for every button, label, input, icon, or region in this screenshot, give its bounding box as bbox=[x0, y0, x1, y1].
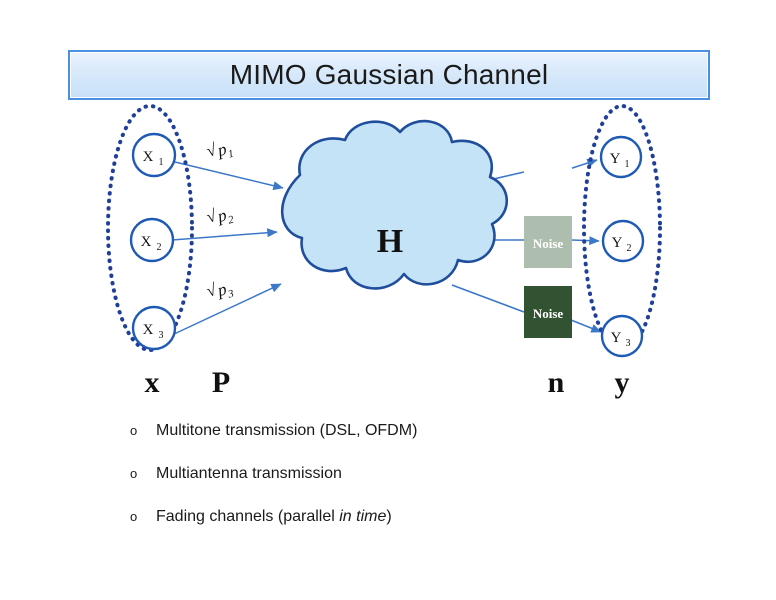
noise-box-2: Noise bbox=[524, 216, 572, 268]
list-item-text-italic: in time bbox=[339, 508, 386, 525]
cloud-letter: H bbox=[377, 223, 403, 260]
arrow-x2-to-cloud bbox=[172, 232, 277, 240]
input-node-x1-base: X bbox=[143, 149, 154, 165]
list-item-text-lead: Fading channels (parallel bbox=[156, 508, 339, 525]
list-item-text: Multitone transmission (DSL, OFDM) bbox=[156, 422, 417, 440]
bullet-circle-icon: o bbox=[130, 467, 156, 480]
input-node-x3[interactable]: X 3 bbox=[133, 307, 175, 349]
bullet-circle-icon: o bbox=[130, 424, 156, 437]
gain-label-p2-sub: 2 bbox=[227, 214, 236, 227]
output-vector-label: y bbox=[615, 366, 630, 399]
input-vector-label: x bbox=[145, 366, 160, 399]
input-node-x2-base: X bbox=[141, 234, 152, 250]
gain-label-p3: √ p 3 bbox=[204, 276, 235, 306]
page-title: MIMO Gaussian Channel bbox=[230, 59, 549, 91]
slide-title-banner: MIMO Gaussian Channel bbox=[68, 50, 710, 100]
output-node-y1-sub: 1 bbox=[625, 159, 630, 170]
list-item: o Fading channels (parallel in time) bbox=[130, 508, 690, 551]
gain-label-p2: √ p 2 bbox=[204, 202, 235, 232]
list-item-text: Multiantenna transmission bbox=[156, 465, 342, 483]
noise-vector-label: n bbox=[548, 366, 565, 399]
gain-label-p1-sub: 1 bbox=[227, 148, 235, 161]
list-item: o Multitone transmission (DSL, OFDM) bbox=[130, 422, 690, 465]
noise-box-2-label: Noise bbox=[533, 236, 564, 251]
output-node-y2-sub: 2 bbox=[627, 243, 632, 254]
cloud-shape bbox=[282, 121, 507, 288]
noise-box-3-label: Noise bbox=[533, 306, 564, 321]
input-node-x2-circle bbox=[131, 219, 173, 261]
list-item: o Multiantenna transmission bbox=[130, 465, 690, 508]
input-node-x1-circle bbox=[133, 134, 175, 176]
connector-cloud-noise-3 bbox=[452, 285, 524, 312]
output-node-y2-circle bbox=[603, 221, 643, 261]
output-node-y2-base: Y bbox=[612, 235, 623, 251]
input-node-x3-sub: 3 bbox=[159, 330, 164, 341]
noise-box-1-label: Noise bbox=[533, 165, 564, 180]
list-item-text-suffix: ) bbox=[386, 508, 391, 525]
input-node-x2-sub: 2 bbox=[157, 242, 162, 253]
input-node-x3-circle bbox=[133, 307, 175, 349]
output-node-y1-circle bbox=[601, 137, 641, 177]
input-arrows bbox=[172, 162, 283, 335]
input-node-x1-sub: 1 bbox=[159, 157, 164, 168]
bullet-circle-icon: o bbox=[130, 510, 156, 523]
output-node-y3-sub: 3 bbox=[626, 338, 631, 349]
bullet-list: o Multitone transmission (DSL, OFDM) o M… bbox=[130, 422, 690, 551]
arrow-x1-to-cloud bbox=[175, 162, 283, 188]
noise-box-3: Noise bbox=[524, 286, 572, 338]
input-node-x2[interactable]: X 2 bbox=[131, 219, 173, 261]
gain-label-p1: √ p 1 bbox=[204, 136, 235, 165]
channel-cloud: H bbox=[282, 121, 507, 288]
noise-box-1: Noise bbox=[524, 145, 572, 197]
list-item-text: Fading channels (parallel in time) bbox=[156, 508, 392, 526]
output-node-y2[interactable]: Y 2 bbox=[603, 221, 643, 261]
input-node-x1[interactable]: X 1 bbox=[133, 134, 175, 176]
power-matrix-label: P bbox=[212, 366, 230, 399]
gain-label-p3-sub: 3 bbox=[226, 288, 236, 301]
output-node-y3[interactable]: Y 3 bbox=[602, 316, 642, 356]
output-node-y1[interactable]: Y 1 bbox=[601, 137, 641, 177]
mimo-channel-diagram: H X 1 X 2 X 3 bbox=[0, 100, 776, 410]
output-node-y3-circle bbox=[602, 316, 642, 356]
input-node-x3-base: X bbox=[143, 322, 154, 338]
output-node-y1-base: Y bbox=[610, 151, 621, 167]
output-node-y3-base: Y bbox=[611, 330, 622, 346]
